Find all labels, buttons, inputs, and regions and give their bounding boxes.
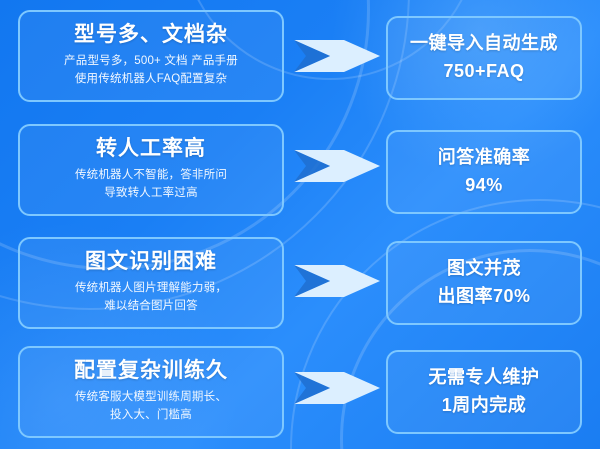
result-line: 1周内完成 bbox=[394, 392, 574, 420]
result-line: 750+FAQ bbox=[394, 58, 574, 86]
infographic-canvas: 型号多、文档杂 产品型号多，500+ 文档 产品手册 使用传统机器人FAQ配置复… bbox=[0, 0, 600, 449]
arrow-right-icon bbox=[292, 364, 382, 412]
result-card: 问答准确率 94% bbox=[386, 130, 582, 214]
arrow-right-icon bbox=[292, 142, 382, 190]
problem-title: 转人工率高 bbox=[28, 136, 274, 161]
problem-title: 图文识别困难 bbox=[28, 249, 274, 274]
problem-desc-line: 难以结合图片回答 bbox=[28, 298, 274, 316]
comparison-row: 图文识别困难 传统机器人图片理解能力弱， 难以结合图片回答 图文并茂 出图率70… bbox=[0, 237, 600, 333]
problem-desc-line: 导致转人工率过高 bbox=[28, 185, 274, 203]
problem-card: 转人工率高 传统机器人不智能，答非所问 导致转人工率过高 bbox=[18, 124, 284, 216]
result-card: 一键导入自动生成 750+FAQ bbox=[386, 16, 582, 100]
problem-desc-line: 传统机器人图片理解能力弱， bbox=[28, 280, 274, 298]
result-line: 一键导入自动生成 bbox=[394, 30, 574, 58]
result-card: 无需专人维护 1周内完成 bbox=[386, 350, 582, 434]
comparison-rows: 型号多、文档杂 产品型号多，500+ 文档 产品手册 使用传统机器人FAQ配置复… bbox=[0, 0, 600, 449]
problem-desc-line: 投入大、门槛高 bbox=[28, 407, 274, 425]
arrow-right-icon bbox=[292, 257, 382, 305]
result-line: 出图率70% bbox=[394, 283, 574, 311]
problem-card: 型号多、文档杂 产品型号多，500+ 文档 产品手册 使用传统机器人FAQ配置复… bbox=[18, 10, 284, 102]
problem-card: 配置复杂训练久 传统客服大模型训练周期长、 投入大、门槛高 bbox=[18, 346, 284, 438]
result-card: 图文并茂 出图率70% bbox=[386, 241, 582, 325]
comparison-row: 转人工率高 传统机器人不智能，答非所问 导致转人工率过高 问答准确率 94% bbox=[0, 124, 600, 220]
result-line: 94% bbox=[394, 172, 574, 200]
problem-desc-line: 传统客服大模型训练周期长、 bbox=[28, 389, 274, 407]
problem-desc-line: 传统机器人不智能，答非所问 bbox=[28, 167, 274, 185]
arrow-right-icon bbox=[292, 32, 382, 80]
problem-desc-line: 使用传统机器人FAQ配置复杂 bbox=[28, 71, 274, 89]
result-line: 无需专人维护 bbox=[394, 364, 574, 392]
comparison-row: 型号多、文档杂 产品型号多，500+ 文档 产品手册 使用传统机器人FAQ配置复… bbox=[0, 10, 600, 106]
problem-desc-line: 产品型号多，500+ 文档 产品手册 bbox=[28, 53, 274, 71]
problem-title: 配置复杂训练久 bbox=[28, 358, 274, 383]
result-line: 图文并茂 bbox=[394, 255, 574, 283]
problem-card: 图文识别困难 传统机器人图片理解能力弱， 难以结合图片回答 bbox=[18, 237, 284, 329]
result-line: 问答准确率 bbox=[394, 144, 574, 172]
comparison-row: 配置复杂训练久 传统客服大模型训练周期长、 投入大、门槛高 无需专人维护 1周内… bbox=[0, 346, 600, 442]
problem-title: 型号多、文档杂 bbox=[28, 22, 274, 47]
